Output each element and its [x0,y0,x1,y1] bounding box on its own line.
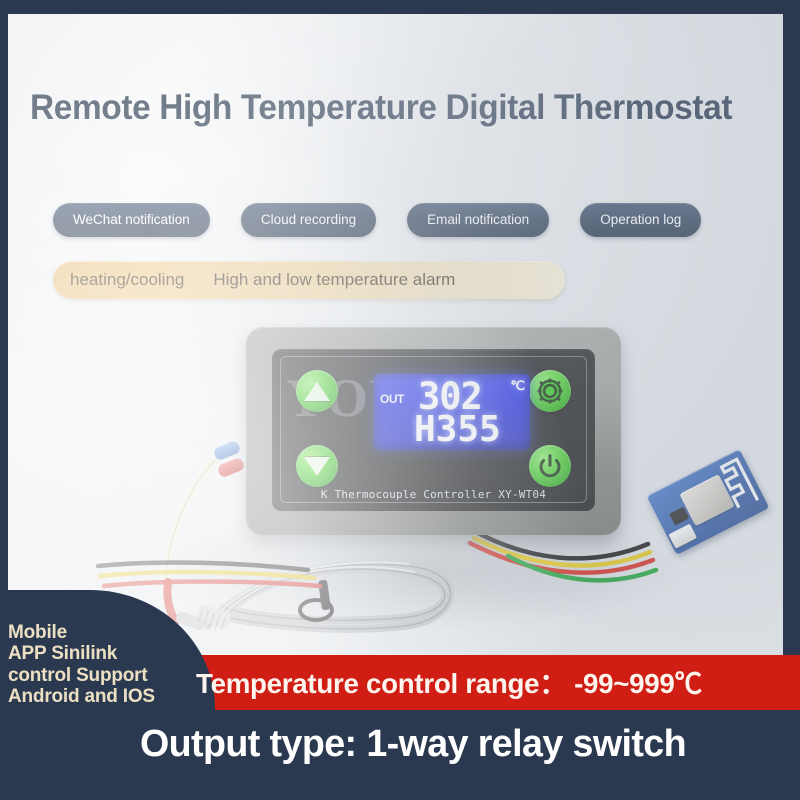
wifi-connector [668,524,697,549]
up-arrow-icon [304,382,330,401]
device-model-label: K Thermocouple Controller XY-WT04 [272,488,595,501]
lcd-unit-label: ℃ [510,379,525,394]
settings-button[interactable] [529,370,571,412]
down-arrow-icon [304,457,330,476]
lcd-status-label: OUT [380,392,404,406]
lcd-display: OUT 302 ℃ H355 [374,374,530,450]
power-button[interactable] [529,445,571,487]
gear-icon [537,378,563,404]
device-faceplate: YOYO [272,349,595,511]
up-arrow-button[interactable] [296,370,338,412]
mobile-app-callout: Mobile APP Sinilink control Support Andr… [8,622,208,708]
output-type-callout: Output type: 1-way relay switch [140,723,686,766]
power-icon [537,453,563,479]
down-arrow-button[interactable] [296,445,338,487]
temperature-range-callout: Temperature control range： -99~999℃ [196,662,702,702]
lcd-setpoint: H355 [414,409,501,450]
thermostat-device: YOYO [246,327,621,535]
product-banner: Remote High Temperature Digital Thermost… [0,0,800,800]
